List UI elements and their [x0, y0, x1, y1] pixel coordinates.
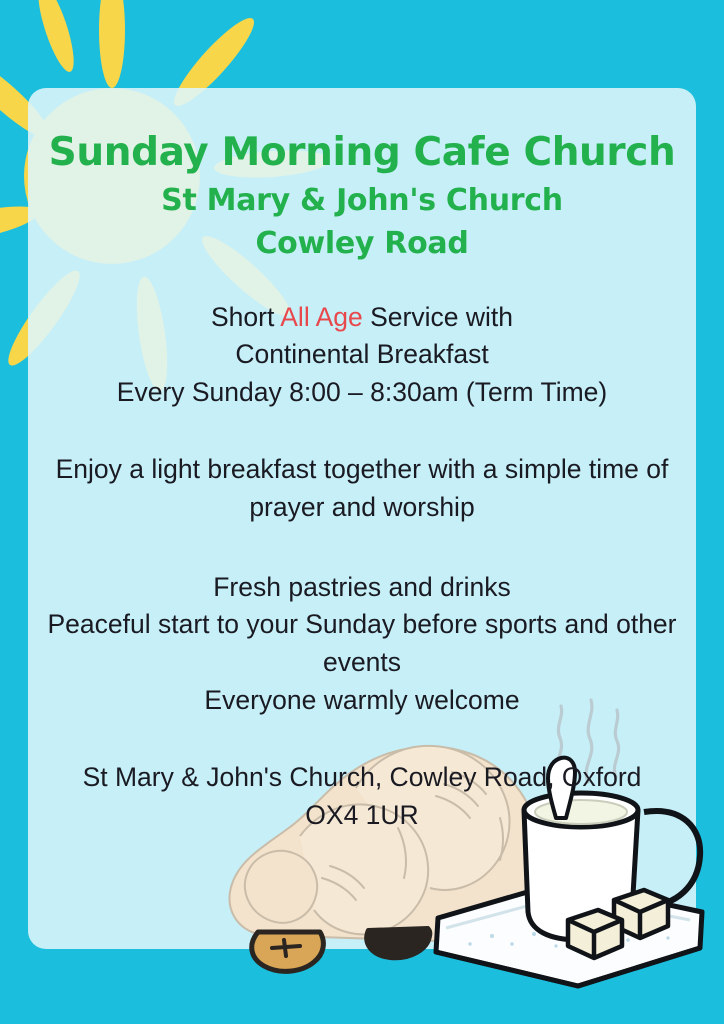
details-line-2: Peaceful start to your Sunday before spo…: [42, 606, 682, 644]
service-line-1: Short All Age Service with: [42, 299, 682, 337]
details-line-3: events: [42, 644, 682, 682]
details-info: Fresh pastries and drinks Peaceful start…: [28, 527, 696, 720]
address-line-1: St Mary & John's Church, Cowley Road, Ox…: [42, 759, 682, 797]
poster-text: Sunday Morning Cafe Church St Mary & Joh…: [28, 88, 696, 949]
service-line-2: Continental Breakfast: [42, 336, 682, 374]
address-info: St Mary & John's Church, Cowley Road, Ox…: [28, 719, 696, 834]
service-line-3: Every Sunday 8:00 – 8:30am (Term Time): [42, 374, 682, 412]
service-line-1-before: Short: [211, 302, 280, 332]
details-line-4: Everyone warmly welcome: [42, 682, 682, 720]
subtitle-road: Cowley Road: [28, 218, 696, 261]
all-age-accent: All Age: [280, 302, 363, 332]
page-title: Sunday Morning Cafe Church: [28, 88, 696, 173]
poster-canvas: Sunday Morning Cafe Church St Mary & Joh…: [0, 0, 724, 1024]
description-line-2: prayer and worship: [42, 489, 682, 527]
description-info: Enjoy a light breakfast together with a …: [28, 411, 696, 526]
service-info: Short All Age Service with Continental B…: [28, 261, 696, 412]
address-line-2: OX4 1UR: [42, 797, 682, 835]
details-line-1: Fresh pastries and drinks: [42, 569, 682, 607]
service-line-1-after: Service with: [363, 302, 513, 332]
description-line-1: Enjoy a light breakfast together with a …: [42, 451, 682, 489]
subtitle-church: St Mary & John's Church: [28, 173, 696, 218]
